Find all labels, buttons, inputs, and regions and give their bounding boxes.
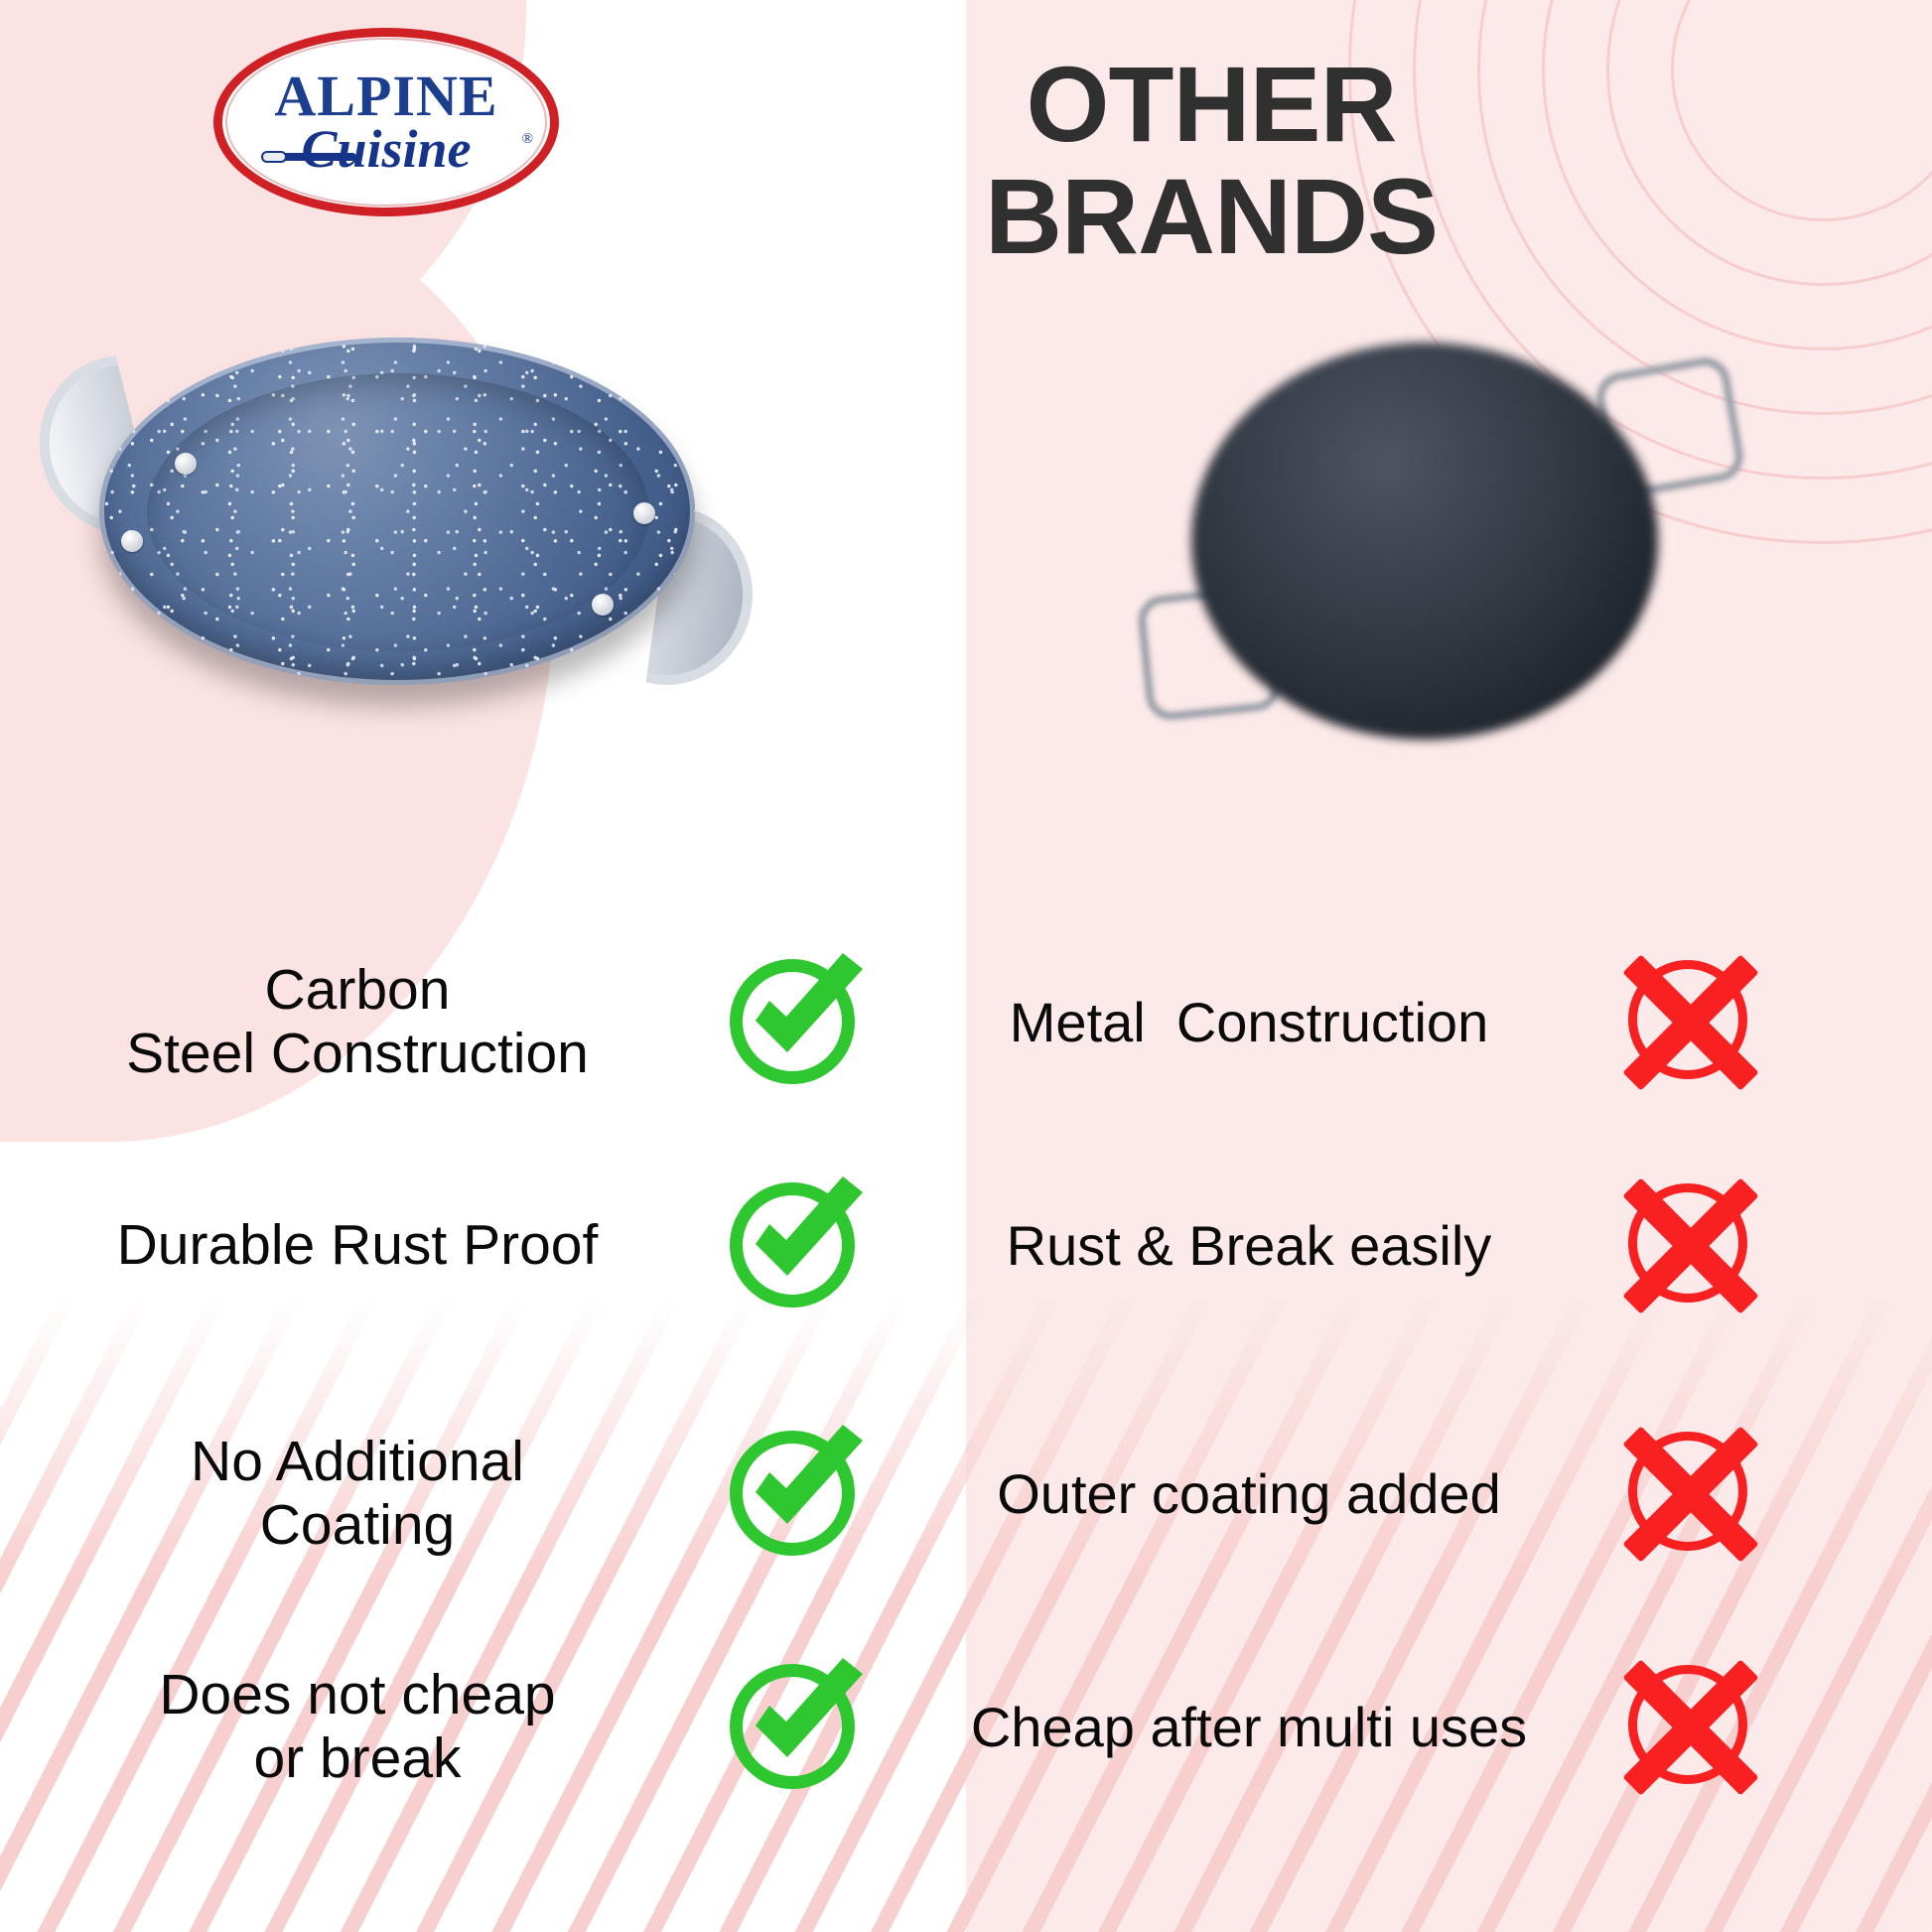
other-status-slot — [1596, 948, 1785, 1097]
cross-icon — [1616, 1172, 1765, 1320]
cross-icon — [1616, 948, 1765, 1097]
check-icon — [726, 1421, 873, 1568]
alpine-status-slot — [705, 949, 894, 1096]
alpine-status-slot — [705, 1421, 894, 1568]
other-status-slot — [1596, 1172, 1785, 1320]
comparison-row: Does not cheap or break Cheap after mult… — [0, 1638, 1932, 1817]
infographic-canvas: ALPINE Cuisine ® OTHER BRANDS Carbon Ste… — [0, 0, 1932, 1932]
other-status-slot — [1596, 1653, 1785, 1802]
check-icon — [726, 1654, 873, 1801]
comparison-table: Carbon Steel Construction Metal Construc… — [0, 0, 1932, 1932]
other-feature-label: Outer coating added — [894, 1463, 1596, 1526]
alpine-status-slot — [705, 1173, 894, 1319]
alpine-feature-label: Carbon Steel Construction — [0, 959, 705, 1086]
cross-icon — [1616, 1420, 1765, 1569]
other-feature-label: Metal Construction — [894, 992, 1596, 1054]
alpine-feature-label: Durable Rust Proof — [0, 1214, 705, 1278]
check-icon — [726, 1173, 873, 1319]
cross-icon — [1616, 1653, 1765, 1802]
other-status-slot — [1596, 1420, 1785, 1569]
other-feature-label: Cheap after multi uses — [894, 1697, 1596, 1759]
alpine-feature-label: No Additional Coating — [0, 1431, 705, 1558]
check-icon — [726, 949, 873, 1096]
comparison-row: Carbon Steel Construction Metal Construc… — [0, 943, 1932, 1102]
alpine-feature-label: Does not cheap or break — [0, 1664, 705, 1791]
alpine-status-slot — [705, 1654, 894, 1801]
other-feature-label: Rust & Break easily — [894, 1215, 1596, 1278]
comparison-row: No Additional Coating Outer coating adde… — [0, 1410, 1932, 1579]
comparison-row: Durable Rust Proof Rust & Break easily — [0, 1167, 1932, 1325]
